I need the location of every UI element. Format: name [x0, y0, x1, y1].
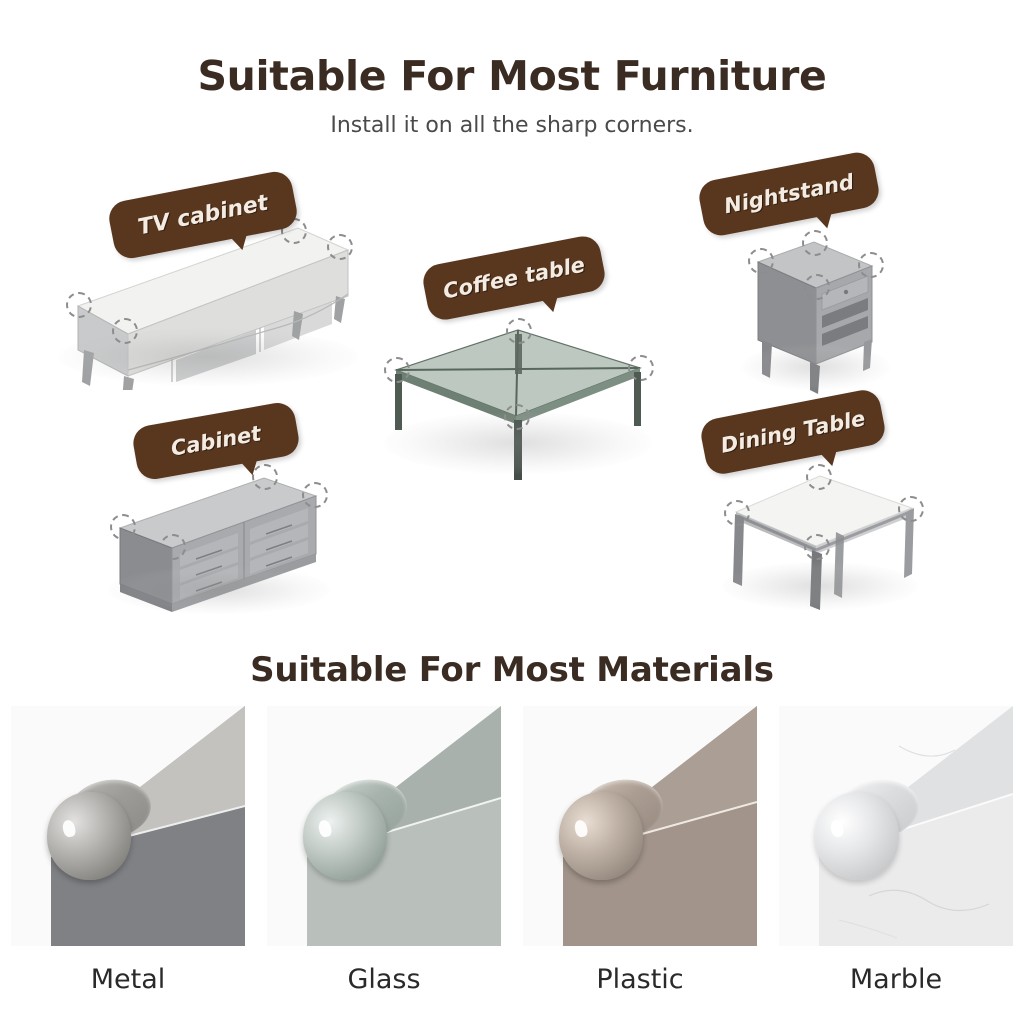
material-label-plastic: Plastic	[596, 964, 683, 995]
nightstand-shadow	[742, 344, 890, 390]
tv-cabinet-shadow	[58, 328, 358, 386]
cabinet-illustration	[104, 458, 334, 618]
infographic-page: Suitable For Most Furniture Install it o…	[0, 0, 1024, 1024]
corner-bumper-glass	[303, 780, 407, 884]
corner-marker	[806, 464, 832, 490]
corner-marker	[504, 404, 530, 430]
corner-bumper-metal	[47, 780, 151, 884]
corner-marker	[327, 234, 353, 260]
material-card-glass: Glass	[256, 706, 512, 1024]
corner-marker	[804, 274, 830, 300]
coffee-table-illustration	[366, 300, 666, 480]
corner-marker	[748, 248, 774, 274]
cabinet-shadow	[108, 566, 330, 614]
material-photo-marble	[779, 706, 1013, 946]
dining-table-illustration	[716, 462, 926, 612]
material-label-marble: Marble	[850, 964, 942, 995]
corner-marker	[112, 318, 138, 344]
materials-section-title: Suitable For Most Materials	[0, 650, 1024, 690]
corner-marker	[160, 534, 186, 560]
material-card-metal: Metal	[0, 706, 256, 1024]
corner-marker	[384, 357, 410, 383]
corner-marker	[724, 500, 750, 526]
corner-marker	[110, 514, 136, 540]
corner-marker	[898, 496, 924, 522]
corner-marker	[858, 252, 884, 278]
dining-table-shadow	[722, 562, 918, 610]
material-card-marble: Marble	[768, 706, 1024, 1024]
corner-marker	[66, 292, 92, 318]
material-label-glass: Glass	[347, 964, 420, 995]
corner-bumper-marble	[815, 780, 919, 884]
material-card-plastic: Plastic	[512, 706, 768, 1024]
corner-marker	[506, 318, 532, 344]
material-photo-glass	[267, 706, 501, 946]
corner-marker	[302, 482, 328, 508]
material-photo-metal	[11, 706, 245, 946]
nightstand-illustration	[736, 228, 896, 398]
material-photo-plastic	[523, 706, 757, 946]
materials-card-row: Metal Glass	[0, 706, 1024, 1024]
material-label-metal: Metal	[91, 964, 166, 995]
corner-marker	[628, 355, 654, 381]
corner-marker	[802, 230, 828, 256]
corner-bumper-plastic	[559, 780, 663, 884]
corner-marker	[804, 534, 830, 560]
